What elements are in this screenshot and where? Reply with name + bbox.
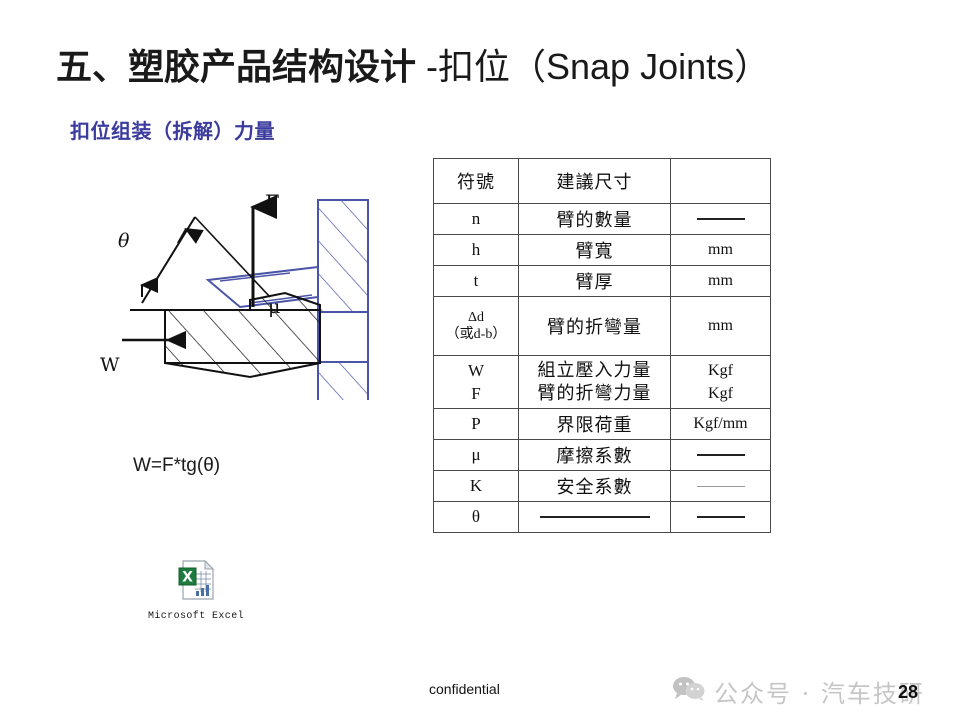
theta-label: θ xyxy=(118,230,130,252)
row-symbol-line2: F xyxy=(434,382,518,405)
row-unit xyxy=(671,502,771,533)
moving-part-shape xyxy=(165,293,320,377)
svg-text:X: X xyxy=(182,570,193,586)
row-desc xyxy=(519,502,671,533)
row-unit xyxy=(671,471,771,502)
wechat-logo-icon xyxy=(672,676,706,707)
table-row: n 臂的數量 xyxy=(434,204,771,235)
row-desc: 臂寬 xyxy=(519,235,671,266)
table-row: W F 組立壓入力量 臂的折彎力量 Kgf Kgf xyxy=(434,356,771,409)
dash-icon xyxy=(540,516,650,518)
row-symbol: t xyxy=(434,266,519,297)
row-desc: 組立壓入力量 臂的折彎力量 xyxy=(519,356,671,409)
embedded-object-caption: Microsoft Excel xyxy=(148,611,244,622)
table-row: h 臂寬 mm xyxy=(434,235,771,266)
page-title: 五、塑胶产品结构设计 -扣位（Snap Joints） xyxy=(56,44,770,90)
spec-table: 符號 建議尺寸 n 臂的數量 h 臂寬 mm t 臂厚 mm Δd （或d-b）… xyxy=(433,158,771,533)
row-desc: 界限荷重 xyxy=(519,409,671,440)
header-recommended: 建議尺寸 xyxy=(519,159,671,204)
row-desc-line2: 臂的折彎力量 xyxy=(519,382,670,405)
theta-angle-indicator xyxy=(142,217,270,303)
table-row: K 安全系數 xyxy=(434,471,771,502)
row-unit: Kgf Kgf xyxy=(671,356,771,409)
table-row: θ xyxy=(434,502,771,533)
dash-icon xyxy=(697,218,745,220)
table-row: t 臂厚 mm xyxy=(434,266,771,297)
page-title-suffix: -扣位（Snap Joints） xyxy=(416,46,770,87)
table-header-row: 符號 建議尺寸 xyxy=(434,159,771,204)
dash-icon xyxy=(697,486,745,487)
page-number: 28 xyxy=(898,682,918,703)
confidential-label: confidential xyxy=(429,681,500,697)
dash-icon xyxy=(697,454,745,456)
row-unit: mm xyxy=(671,297,771,356)
row-unit: Kgf/mm xyxy=(671,409,771,440)
row-symbol: μ xyxy=(434,440,519,471)
row-desc: 安全系數 xyxy=(519,471,671,502)
table-row: Δd （或d-b） 臂的折彎量 mm xyxy=(434,297,771,356)
embedded-excel-object[interactable]: X Microsoft Excel xyxy=(140,558,252,623)
header-unit xyxy=(671,159,771,204)
dash-icon xyxy=(697,516,745,518)
row-symbol-line1: W xyxy=(434,359,518,382)
watermark-text: 公众号 · 汽车技研 xyxy=(714,674,925,709)
row-symbol: W F xyxy=(434,356,519,409)
row-symbol: θ xyxy=(434,502,519,533)
formula-label: W=F*tg(θ) xyxy=(133,455,220,477)
row-symbol: n xyxy=(434,204,519,235)
table-row: P 界限荷重 Kgf/mm xyxy=(434,409,771,440)
row-desc: 摩擦系數 xyxy=(519,440,671,471)
mating-wall-shape xyxy=(318,200,368,400)
row-desc: 臂的數量 xyxy=(519,204,671,235)
row-symbol-line1: Δd xyxy=(434,309,518,326)
force-f-label: F xyxy=(265,191,280,215)
spec-table-body: 符號 建議尺寸 n 臂的數量 h 臂寬 mm t 臂厚 mm Δd （或d-b）… xyxy=(434,159,771,533)
row-unit: mm xyxy=(671,235,771,266)
page-title-main: 五、塑胶产品结构设计 xyxy=(56,47,416,87)
row-unit xyxy=(671,440,771,471)
row-symbol: h xyxy=(434,235,519,266)
row-unit: mm xyxy=(671,266,771,297)
watermark: 公众号 · 汽车技研 xyxy=(672,674,925,709)
header-symbol: 符號 xyxy=(434,159,519,204)
friction-mu-label: μ xyxy=(268,296,280,318)
row-desc: 臂厚 xyxy=(519,266,671,297)
snap-joint-diagram: θ F μ W xyxy=(90,185,400,400)
row-symbol: P xyxy=(434,409,519,440)
row-unit-line1: Kgf xyxy=(671,359,770,382)
row-unit xyxy=(671,204,771,235)
row-desc-line1: 組立壓入力量 xyxy=(519,359,670,382)
excel-file-icon: X xyxy=(174,558,218,602)
table-row: μ 摩擦系數 xyxy=(434,440,771,471)
section-subtitle: 扣位组装（拆解）力量 xyxy=(70,118,275,146)
row-symbol: Δd （或d-b） xyxy=(434,297,519,356)
row-desc: 臂的折彎量 xyxy=(519,297,671,356)
row-unit-line2: Kgf xyxy=(671,382,770,405)
force-w-label: W xyxy=(100,354,120,376)
row-symbol: K xyxy=(434,471,519,502)
row-symbol-line2: （或d-b） xyxy=(434,326,518,343)
